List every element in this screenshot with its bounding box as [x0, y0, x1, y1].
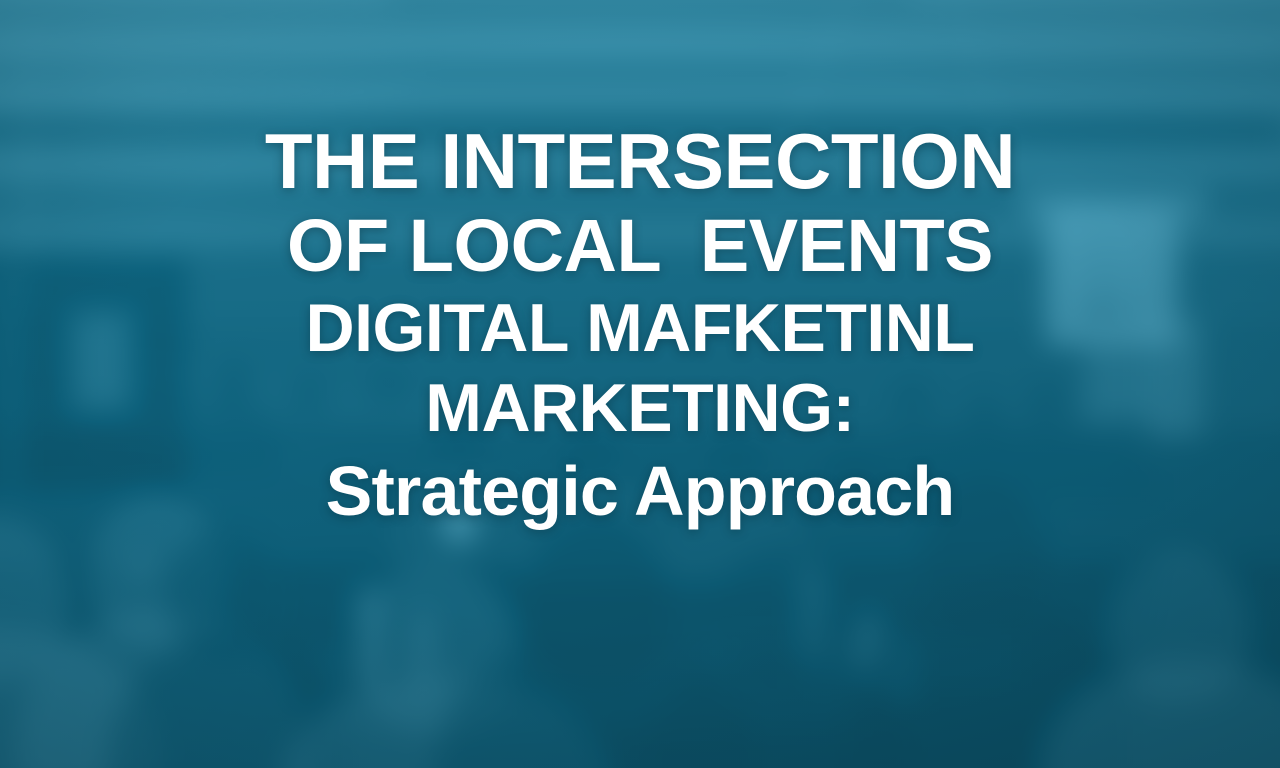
- headline-line-4: MARKETING:: [90, 368, 1190, 448]
- headline-block: THE INTERSECTION OF LOCAL EVENTS DIGITAL…: [0, 118, 1280, 534]
- headline-subtitle: Strategic Approach: [90, 448, 1190, 534]
- headline-line-3: DIGITAL MAFKETINL: [90, 288, 1190, 368]
- title-slide: THE INTERSECTION OF LOCAL EVENTS DIGITAL…: [0, 0, 1280, 768]
- headline-line-2: OF LOCAL EVENTS: [90, 204, 1190, 288]
- headline-line-1: THE INTERSECTION: [90, 118, 1190, 204]
